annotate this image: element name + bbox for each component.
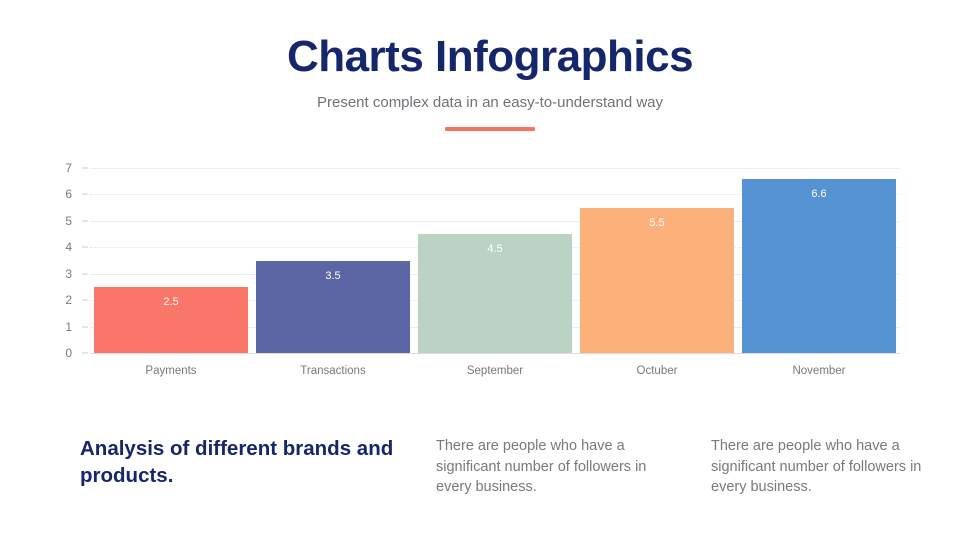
y-axis-label: 2 bbox=[12, 293, 72, 307]
y-axis-label: 3 bbox=[12, 267, 72, 281]
y-axis-label: 6 bbox=[12, 187, 72, 201]
accent-divider bbox=[445, 127, 535, 131]
x-axis-label: November bbox=[738, 365, 900, 377]
bar-chart: 01234567 2.5Payments3.5Transactions4.5Se… bbox=[0, 160, 980, 382]
y-axis-tick-mark bbox=[82, 326, 88, 327]
x-axis-label: Payments bbox=[90, 365, 252, 377]
y-axis-tick-mark bbox=[82, 247, 88, 248]
bar-value-label: 4.5 bbox=[418, 243, 572, 255]
bar-value-label: 6.6 bbox=[742, 188, 896, 200]
y-axis-tick-mark bbox=[82, 168, 88, 169]
bar-value-label: 2.5 bbox=[94, 296, 248, 308]
y-axis-tick-mark bbox=[82, 273, 88, 274]
x-axis-label: September bbox=[414, 365, 576, 377]
bottom-text-section: Analysis of different brands and product… bbox=[0, 425, 980, 535]
header: Charts Infographics Present complex data… bbox=[0, 0, 980, 131]
page-subtitle: Present complex data in an easy-to-under… bbox=[0, 94, 980, 111]
chart-bar[interactable]: 3.5 bbox=[256, 261, 410, 354]
y-axis-label: 4 bbox=[12, 240, 72, 254]
y-axis-tick-mark bbox=[82, 194, 88, 195]
page-title: Charts Infographics bbox=[0, 34, 980, 80]
chart-bar[interactable]: 4.5 bbox=[418, 234, 572, 353]
y-axis-label: 7 bbox=[12, 161, 72, 175]
chart-baseline bbox=[90, 353, 900, 354]
description-paragraph-2: There are people who have a significant … bbox=[436, 436, 651, 498]
chart-bar[interactable]: 2.5 bbox=[94, 287, 248, 353]
y-axis-label: 0 bbox=[12, 346, 72, 360]
chart-bar[interactable]: 5.5 bbox=[580, 208, 734, 353]
x-axis-label: Octuber bbox=[576, 365, 738, 377]
chart-bar[interactable]: 6.6 bbox=[742, 179, 896, 353]
y-axis-label: 1 bbox=[12, 320, 72, 334]
y-axis-tick-mark bbox=[82, 353, 88, 354]
y-axis-tick-mark bbox=[82, 300, 88, 301]
description-paragraph-3: There are people who have a significant … bbox=[711, 436, 926, 498]
y-axis-label: 5 bbox=[12, 214, 72, 228]
x-axis-label: Transactions bbox=[252, 365, 414, 377]
bar-value-label: 3.5 bbox=[256, 270, 410, 282]
chart-bars: 2.5Payments3.5Transactions4.5September5.… bbox=[90, 168, 900, 353]
bar-value-label: 5.5 bbox=[580, 217, 734, 229]
y-axis-tick-mark bbox=[82, 220, 88, 221]
analysis-heading: Analysis of different brands and product… bbox=[80, 435, 410, 489]
